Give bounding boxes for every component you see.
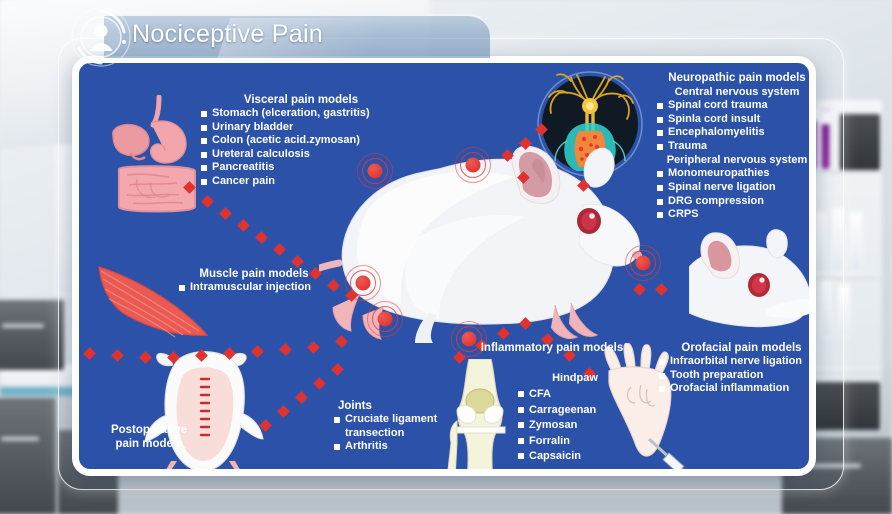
list-item: Trauma [657,140,816,154]
connector-square [307,341,320,354]
inflammatory-items-list: CFA Carrageenan Zymosan Forralin Capsaic… [518,387,642,465]
cns-items-list: Spinal cord trauma Spinla cord insult En… [657,99,816,153]
block-title: Neuropathic pain models [657,71,816,85]
list-item: Spinal nerve ligation [657,181,816,195]
connector-square [83,347,96,360]
block-title: Orofacial pain models [659,341,816,355]
list-item: Stomach (elceration, gastritis) [201,107,401,121]
visceral-items-list: Stomach (elceration, gastritis) Urinary … [201,107,401,189]
test-tube [821,110,830,170]
list-item: CRPS [657,208,816,222]
list-item: Urinary bladder [201,121,401,135]
postoperative-mouse-illustration [141,349,271,475]
page-title: Nociceptive Pain [132,20,323,49]
postoperative-pain-models-block: Postoperative pain models [89,423,209,451]
list-item: Arthritis [334,440,444,454]
connector-square [277,405,290,418]
list-item: Cruciate ligament transection [334,413,444,440]
block-subtitle-cns: Central nervous system [657,85,816,99]
postop-line-1: Postoperative [89,423,209,437]
postop-line-2: pain models [89,437,209,451]
list-item: Carrageenan [518,403,642,419]
pain-point-marker [623,243,663,283]
list-item: Spinla cord insult [657,113,816,127]
list-item: Infraorbital nerve ligation [659,355,816,369]
block-subtitle-hindpaw: Hindpaw [508,371,642,385]
block-title: Muscle pain models [179,267,329,281]
user-circle-icon [70,6,132,68]
list-item: Capsaicin [518,449,642,465]
connector-square [331,363,344,376]
list-item: CFA [518,387,642,403]
background-cabinet [0,300,64,370]
background-cabinet [0,398,56,514]
connector-square [279,343,292,356]
test-tube [832,208,844,274]
list-item: Colon (acetic acid.zymosan) [201,134,401,148]
pain-point-marker [365,299,405,339]
mouse-head-illustration [689,223,816,343]
list-item: Orofacial inflammation [659,382,816,396]
pain-models-panel: Visceral pain models Stomach (elceration… [72,56,816,476]
inflammatory-pain-models-block: Inflammatory pain models Hindpaw CFA Car… [462,341,642,465]
header: Nociceptive Pain [70,6,490,62]
digestive-organs-illustration [107,95,207,215]
test-tube [850,212,862,274]
block-title: Joints [334,399,444,413]
connector-square [273,243,286,256]
connector-square [313,377,326,390]
connector-square [255,231,268,244]
pns-items-list: Monomeuropathies Spinal nerve ligation D… [657,167,816,221]
muscle-pain-models-block: Muscle pain models Intramuscular injecti… [179,267,329,295]
pain-point-marker [453,145,493,185]
block-title: Inflammatory pain models [462,341,642,355]
connector-square [291,255,304,268]
list-item: Zymosan [518,418,642,434]
connector-square [111,349,124,362]
joints-items-list: Cruciate ligament transection Arthritis [334,413,444,454]
connector-square [219,207,232,220]
connector-square [655,283,668,296]
block-title: Visceral pain models [201,93,401,107]
list-item: DRG compression [657,195,816,209]
pain-point-marker [343,263,383,303]
list-item: Cancer pain [201,175,401,189]
connector-square [237,219,250,232]
muscle-items-list: Intramuscular injection [179,281,329,295]
list-item: Ureteral calculosis [201,148,401,162]
list-item: Intramuscular injection [179,281,329,295]
test-tube [838,284,850,338]
visceral-pain-models-block: Visceral pain models Stomach (elceration… [201,93,401,189]
list-item: Monomeuropathies [657,167,816,181]
orofacial-pain-models-block: Orofacial pain models Infraorbital nerve… [659,341,816,396]
connector-square [295,391,308,404]
background-equipment [840,114,880,170]
list-item: Encephalomyelitis [657,126,816,140]
title-dot [122,40,126,44]
list-item: Spinal cord trauma [657,99,816,113]
neuropathic-pain-models-block: Neuropathic pain models Central nervous … [657,71,816,222]
list-item: Tooth preparation [659,369,816,383]
orofacial-items-list: Infraorbital nerve ligation Tooth prepar… [659,355,816,396]
test-tube [820,280,832,338]
list-item: Pancreatitis [201,161,401,175]
joints-block: Joints Cruciate ligament transection Art… [334,399,444,454]
list-item: Forralin [518,434,642,450]
block-subtitle-pns: Peripheral nervous system [657,153,816,167]
